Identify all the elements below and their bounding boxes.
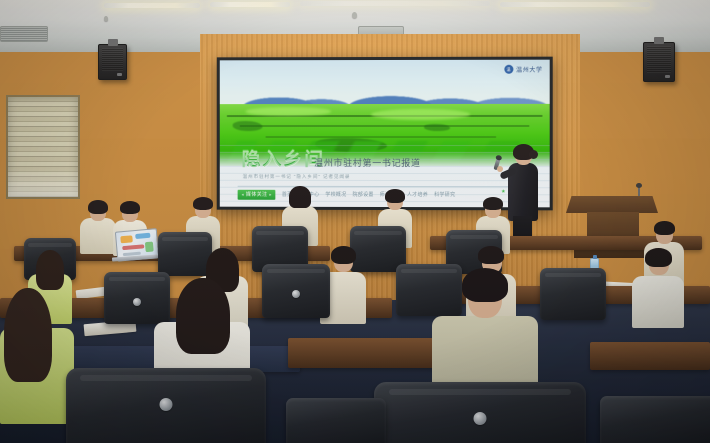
person-hair: [478, 246, 504, 264]
person-hair: [120, 201, 140, 214]
lectern-top: [566, 196, 658, 213]
chair-highlight: [28, 243, 73, 247]
slide-nav-item: 科学研究: [434, 191, 455, 198]
chair-logo-badge: [292, 290, 300, 298]
speaker-bracket: [108, 39, 118, 46]
chair-highlight: [450, 235, 498, 239]
slide-nav-tag: ◂ 媒体关注 ▸: [238, 189, 276, 199]
speaker-led: [665, 75, 670, 78]
field-hedge: [266, 136, 497, 138]
person-hair: [462, 268, 508, 302]
person-hair: [483, 197, 503, 210]
chair-logo-badge: [133, 298, 141, 306]
person-hair: [289, 186, 311, 208]
person-hair: [4, 288, 52, 382]
field-patch: [424, 124, 450, 131]
chair-highlight: [389, 389, 571, 395]
chair-highlight: [256, 231, 304, 235]
chair-logo-badge: [474, 412, 487, 425]
ceiling-light-4: [500, 2, 650, 7]
window-glare: [8, 167, 78, 197]
laptop-screen-content: [135, 233, 150, 239]
slide-subtitle: 温州市驻村第一书记报道: [314, 156, 421, 169]
conference-chair: [374, 382, 586, 443]
conference-chair: [540, 268, 606, 320]
chair-highlight: [267, 269, 326, 273]
conference-chair: [66, 368, 266, 443]
person-torso: [632, 276, 684, 328]
ceiling-sprinkler: [352, 12, 357, 18]
laptop-screen-content: [122, 244, 144, 250]
laptop-screen-content: [145, 242, 154, 253]
chair-highlight: [354, 231, 402, 235]
chevron-right-icon: ▸: [269, 192, 271, 197]
conference-chair: [286, 398, 386, 443]
slide-university-logo: 温 温州大学: [504, 65, 543, 74]
slide-title: 隐入乡间: [242, 144, 326, 171]
wall-speaker-left: [98, 44, 127, 80]
field-hedge: [239, 125, 529, 127]
desk-row-front: [288, 338, 438, 368]
field-patch: [233, 121, 262, 131]
presenter-hair-bun: [529, 150, 538, 159]
field-highlight: [371, 109, 470, 120]
slide-nav-item: 院部设置: [353, 191, 374, 198]
university-logo-name: 温州大学: [516, 65, 543, 74]
person-hair: [193, 197, 213, 210]
university-logo-mark: 温: [504, 65, 513, 74]
wall-speaker-right: [643, 42, 675, 82]
ceiling-light-1: [104, 3, 200, 8]
window-with-blinds: [6, 95, 80, 199]
person-hair: [645, 248, 672, 267]
chair-highlight: [80, 375, 252, 381]
person-hair: [88, 200, 108, 214]
chevron-left-icon: ◂: [242, 192, 244, 197]
audience-member: [0, 292, 74, 422]
chair-highlight: [109, 277, 166, 281]
desk-row-front: [590, 342, 710, 370]
slide-content: 温 温州大学 隐入乡间 温州市驻村第一书记报道 温州市驻村第一书记 "隐入乡间"…: [220, 60, 550, 208]
ceiling-sprinkler: [104, 16, 108, 21]
person-torso: [80, 218, 116, 254]
chair-highlight: [545, 273, 602, 277]
presentation-room-photo: 温 温州大学 隐入乡间 温州市驻村第一书记报道 温州市驻村第一书记 "隐入乡间"…: [0, 0, 710, 443]
slide-nav-item: 学校概况: [325, 191, 346, 198]
conference-chair: [600, 396, 710, 443]
conference-chair: [262, 264, 330, 318]
slide-nav-tag-label: 媒体关注: [246, 191, 267, 198]
chair-highlight: [162, 237, 208, 241]
field-highlight: [246, 107, 331, 116]
speaker-bracket: [654, 37, 664, 44]
audience-member: [80, 200, 116, 252]
laptop-screen-content: [120, 235, 133, 243]
person-hair: [331, 246, 356, 264]
audience-member: [632, 250, 684, 324]
person-hair: [654, 221, 675, 235]
ceiling-light-2: [210, 2, 290, 7]
chair-logo-badge: [160, 398, 173, 411]
person-hair: [176, 278, 230, 354]
speaker-led: [117, 73, 122, 76]
person-hair: [36, 250, 64, 290]
presenter-hand: [497, 166, 503, 172]
ceiling-light-3: [300, 1, 490, 6]
slide-kicker: 温州市驻村第一书记 "隐入乡间" 记者见闻录: [243, 174, 351, 180]
person-hair: [385, 189, 405, 203]
